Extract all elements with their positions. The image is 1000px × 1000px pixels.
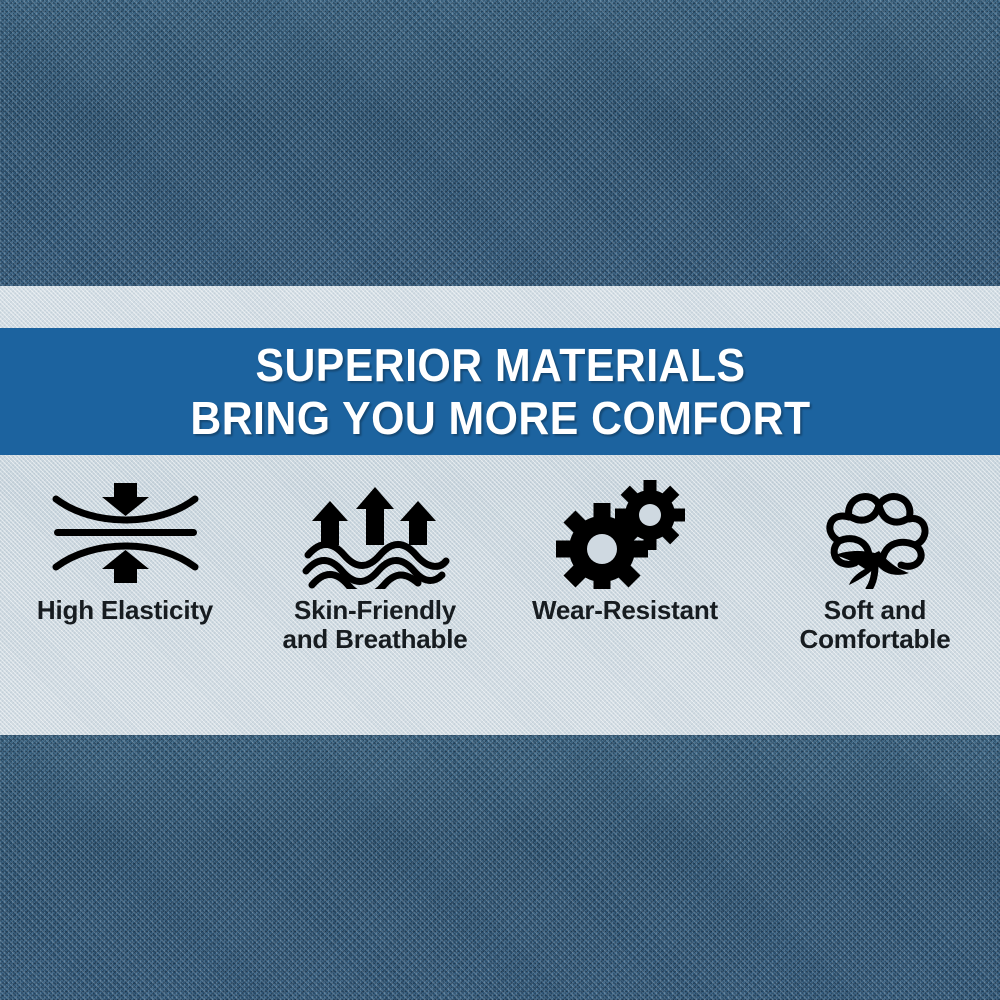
cotton-boll-icon [805, 478, 945, 588]
feature-label-wear-resistant: Wear-Resistant [532, 596, 718, 625]
denim-fabric-top [0, 0, 1000, 292]
feature-skin-friendly-breathable: Skin-Friendly and Breathable [250, 470, 500, 710]
headline-line-1: SUPERIOR MATERIALS [255, 339, 745, 392]
product-feature-poster: SUPERIOR MATERIALS BRING YOU MORE COMFOR… [0, 0, 1000, 1000]
gears-icon [550, 478, 700, 588]
feature-label-skin-friendly-breathable: Skin-Friendly and Breathable [282, 596, 467, 654]
denim-fabric-bottom [0, 735, 1000, 1000]
feature-label-soft-comfortable: Soft and Comfortable [800, 596, 951, 654]
breathable-airflow-waves-icon [300, 478, 450, 588]
feature-soft-comfortable: Soft and Comfortable [750, 470, 1000, 710]
headline-banner: SUPERIOR MATERIALS BRING YOU MORE COMFOR… [0, 328, 1000, 455]
feature-row: High Elasticity [0, 470, 1000, 710]
feature-label-high-elasticity: High Elasticity [37, 596, 213, 625]
feature-wear-resistant: Wear-Resistant [500, 470, 750, 710]
feature-high-elasticity: High Elasticity [0, 470, 250, 710]
elasticity-stretch-icon [38, 478, 213, 588]
headline-line-2: BRING YOU MORE COMFORT [190, 392, 810, 445]
